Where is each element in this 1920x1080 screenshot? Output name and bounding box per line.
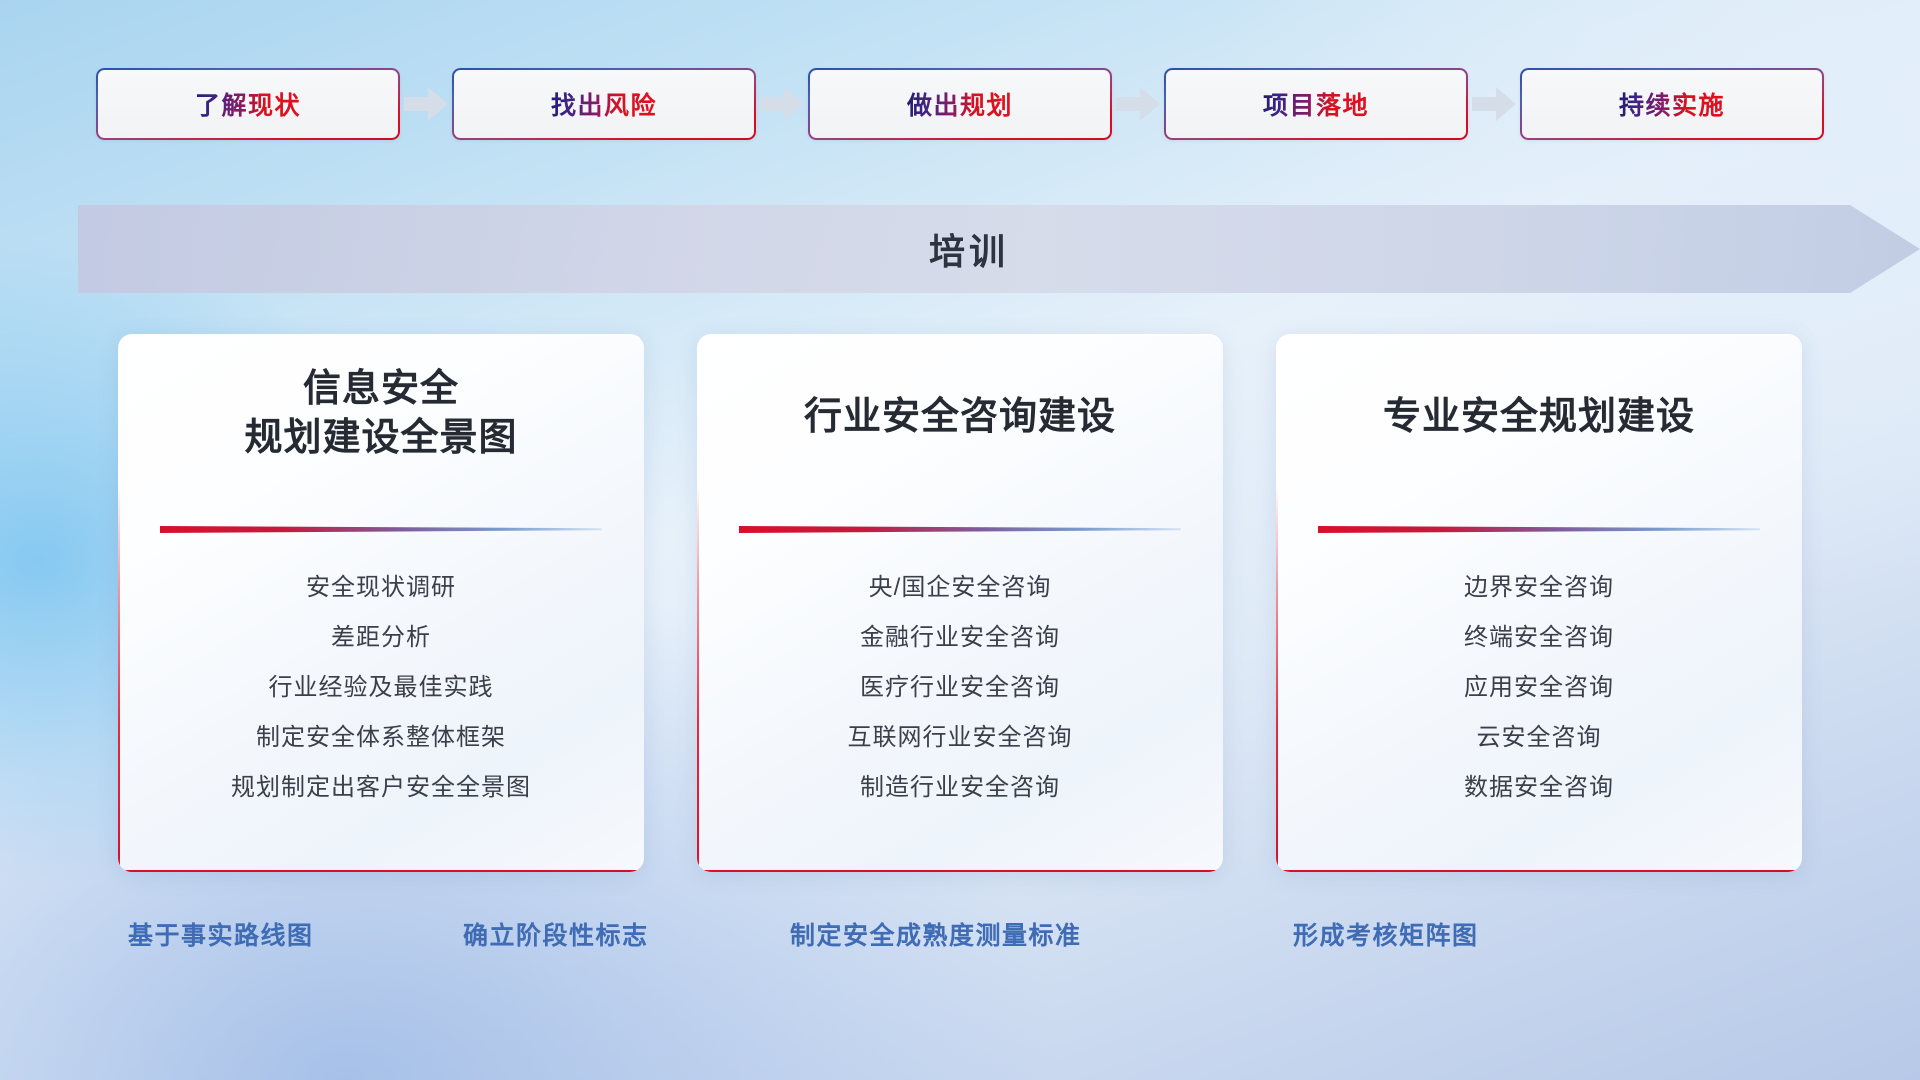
footer-label: 基于事实路线图	[128, 916, 314, 952]
chevron-arrow-icon	[1468, 64, 1520, 144]
step-box[interactable]: 了解现状	[96, 68, 400, 140]
training-banner: 培训	[78, 205, 1920, 293]
list-item: 医疗行业安全咨询	[697, 663, 1223, 713]
card-title-line: 行业安全咨询建设	[697, 393, 1223, 442]
card-divider	[739, 520, 1181, 529]
banner-title: 培训	[78, 205, 1920, 293]
chevron-arrow-icon	[1112, 64, 1164, 144]
step-label: 找出风险	[551, 86, 657, 122]
card-divider	[1318, 520, 1760, 529]
list-item: 云安全咨询	[1276, 713, 1802, 763]
footer-label: 制定安全成熟度测量标准	[790, 916, 1082, 952]
card-list: 安全现状调研 差距分析 行业经验及最佳实践 制定安全体系整体框架 规划制定出客户…	[118, 563, 644, 813]
card-bottom-accent	[697, 870, 1223, 873]
list-item: 制定安全体系整体框架	[118, 713, 644, 763]
list-item: 互联网行业安全咨询	[697, 713, 1223, 763]
step-label: 了解现状	[195, 86, 301, 122]
card-title-line: 专业安全规划建设	[1276, 393, 1802, 442]
list-item: 终端安全咨询	[1276, 613, 1802, 663]
card-professional-security-planning[interactable]: 专业安全规划建设 边界安全咨询 终端安全咨询 应用安全咨询 云安全咨询 数据安全…	[1276, 334, 1802, 872]
list-item: 安全现状调研	[118, 563, 644, 613]
step-box[interactable]: 找出风险	[452, 68, 756, 140]
card-left-accent	[1276, 485, 1278, 872]
card-bottom-accent	[118, 870, 644, 873]
card-industry-security-consulting[interactable]: 行业安全咨询建设 央/国企安全咨询 金融行业安全咨询 医疗行业安全咨询 互联网行…	[697, 334, 1223, 872]
list-item: 金融行业安全咨询	[697, 613, 1223, 663]
card-title: 专业安全规划建设	[1276, 393, 1802, 442]
card-surface: 信息安全 规划建设全景图 安全现状调研 差距分析 行业经验及最佳实践 制定安全体…	[118, 334, 644, 872]
step-label: 做出规划	[907, 86, 1013, 122]
step-label: 项目落地	[1263, 86, 1369, 122]
process-steps-row: 了解现状 找出风险 做出规划 项目落地 持续实施	[0, 64, 1920, 144]
card-surface: 专业安全规划建设 边界安全咨询 终端安全咨询 应用安全咨询 云安全咨询 数据安全…	[1276, 334, 1802, 872]
list-item: 规划制定出客户安全全景图	[118, 763, 644, 813]
list-item: 边界安全咨询	[1276, 563, 1802, 613]
list-item: 央/国企安全咨询	[697, 563, 1223, 613]
card-divider	[160, 520, 602, 529]
card-title: 信息安全 规划建设全景图	[118, 365, 644, 464]
footer-label: 形成考核矩阵图	[1293, 916, 1479, 952]
card-list: 央/国企安全咨询 金融行业安全咨询 医疗行业安全咨询 互联网行业安全咨询 制造行…	[697, 563, 1223, 813]
step-label: 持续实施	[1619, 86, 1725, 122]
card-information-security-panorama[interactable]: 信息安全 规划建设全景图 安全现状调研 差距分析 行业经验及最佳实践 制定安全体…	[118, 334, 644, 872]
chevron-arrow-icon	[400, 64, 452, 144]
list-item: 制造行业安全咨询	[697, 763, 1223, 813]
footer-label: 确立阶段性标志	[463, 916, 649, 952]
card-surface: 行业安全咨询建设 央/国企安全咨询 金融行业安全咨询 医疗行业安全咨询 互联网行…	[697, 334, 1223, 872]
step-box[interactable]: 持续实施	[1520, 68, 1824, 140]
chevron-arrow-icon	[756, 64, 808, 144]
card-list: 边界安全咨询 终端安全咨询 应用安全咨询 云安全咨询 数据安全咨询	[1276, 563, 1802, 813]
card-title-line: 信息安全	[118, 365, 644, 414]
card-title: 行业安全咨询建设	[697, 393, 1223, 442]
step-box[interactable]: 项目落地	[1164, 68, 1468, 140]
list-item: 差距分析	[118, 613, 644, 663]
card-left-accent	[697, 485, 699, 872]
list-item: 行业经验及最佳实践	[118, 663, 644, 713]
card-left-accent	[118, 485, 120, 872]
card-bottom-accent	[1276, 870, 1802, 873]
step-box[interactable]: 做出规划	[808, 68, 1112, 140]
card-title-line: 规划建设全景图	[118, 414, 644, 463]
footer-labels-row: 基于事实路线图 确立阶段性标志 制定安全成熟度测量标准 形成考核矩阵图	[0, 916, 1920, 962]
cards-row: 信息安全 规划建设全景图 安全现状调研 差距分析 行业经验及最佳实践 制定安全体…	[0, 334, 1920, 874]
list-item: 应用安全咨询	[1276, 663, 1802, 713]
list-item: 数据安全咨询	[1276, 763, 1802, 813]
